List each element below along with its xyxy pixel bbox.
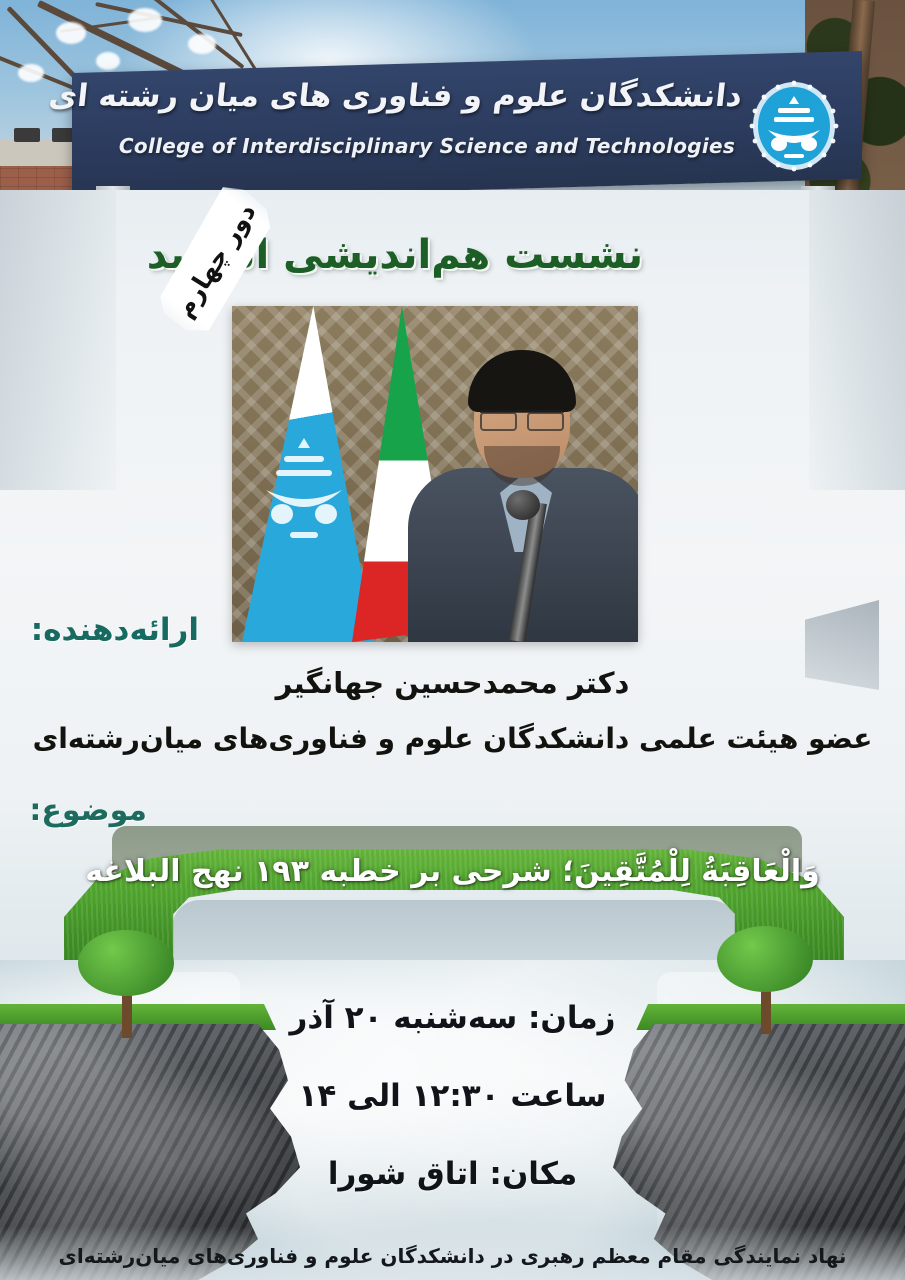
university-flag-emblem-icon bbox=[256, 434, 352, 564]
topic-text: وَالْعَاقِبَةُ لِلْمُتَّقِینَ؛ شرحی بر خ… bbox=[0, 854, 905, 889]
facade-panel-left bbox=[0, 190, 116, 490]
presenter-affiliation: عضو هیئت علمی دانشکدگان علوم و فناوری‌ها… bbox=[0, 722, 905, 755]
roof-unit bbox=[14, 128, 40, 142]
college-signboard: دانشکدگان علوم و فناوری های میان رشته ای… bbox=[72, 51, 862, 201]
blossom-icon bbox=[128, 8, 162, 32]
topic-label: موضوع: bbox=[29, 793, 147, 828]
microphone-icon bbox=[506, 490, 540, 520]
event-date: زمان: سه‌شنبه ۲۰ آذر bbox=[0, 1000, 905, 1036]
presenter-label: ارائه‌دهنده: bbox=[31, 612, 199, 648]
signboard-persian-text: دانشکدگان علوم و فناوری های میان رشته ای bbox=[110, 78, 744, 114]
organizer-text: نهاد نمایندگی مقام معظم رهبری در دانشکدگ… bbox=[0, 1244, 905, 1268]
tree-crown-icon bbox=[717, 926, 813, 992]
tree-crown-icon bbox=[78, 930, 174, 996]
glasses-icon bbox=[480, 410, 564, 429]
speaker-photo bbox=[232, 306, 638, 642]
event-location: مکان: اتاق شورا bbox=[0, 1156, 905, 1192]
event-time: ساعت ۱۲:۳۰ الی ۱۴ bbox=[0, 1078, 905, 1114]
blossom-icon bbox=[56, 22, 86, 44]
presenter-name: دکتر محمدحسین جهانگیر bbox=[0, 666, 905, 700]
university-of-tehran-seal-icon bbox=[748, 78, 840, 174]
blossom-icon bbox=[188, 34, 216, 54]
signboard-english-text: College of Interdisciplinary Science and… bbox=[112, 134, 742, 158]
event-poster: دانشکدگان علوم و فناوری های میان رشته ای… bbox=[0, 0, 905, 1280]
facade-panel-right bbox=[809, 190, 905, 490]
blossom-icon bbox=[18, 64, 44, 82]
